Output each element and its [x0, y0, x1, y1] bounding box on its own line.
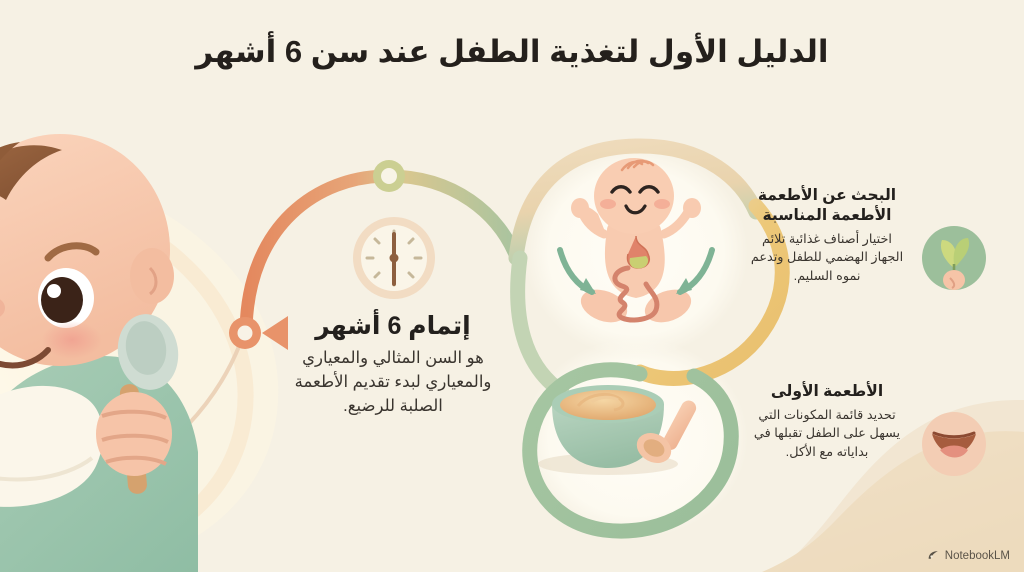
notebooklm-logo-icon: [927, 549, 940, 562]
block-first-heading: الأطعمة الأولى: [748, 382, 906, 402]
badge-icons-layer: [0, 0, 1024, 572]
block-first-body: تحديد قائمة المكونات التي يسهل على الطفل…: [748, 406, 906, 462]
notebooklm-watermark-label: NotebookLM: [945, 550, 1010, 562]
page-title: الدليل الأول لتغذية الطفل عند سن 6 أشهر: [0, 34, 1024, 70]
block-first-foods: الأطعمة الأولى تحديد قائمة المكونات التي…: [748, 382, 906, 461]
block-months-heading: إتمام 6 أشهر: [288, 310, 498, 342]
block-months: إتمام 6 أشهر هو السن المثالي والمعياري و…: [288, 310, 498, 419]
notebooklm-watermark: NotebookLM: [927, 549, 1010, 562]
infographic-canvas: الدليل الأول لتغذية الطفل عند سن 6 أشهر …: [0, 0, 1024, 572]
block-search-foods: البحث عن الأطعمة الأطعمة المناسبة اختيار…: [748, 186, 906, 285]
sprout-icon-badge[interactable]: [922, 226, 986, 290]
block-search-body: اختيار أصناف غذائية تلائم الجهاز الهضمي …: [748, 230, 906, 286]
block-months-body: هو السن المثالي والمعياري والمعياري لبدء…: [288, 347, 498, 419]
open-mouth-icon-badge[interactable]: [922, 412, 986, 476]
block-search-heading: البحث عن الأطعمة الأطعمة المناسبة: [748, 186, 906, 226]
